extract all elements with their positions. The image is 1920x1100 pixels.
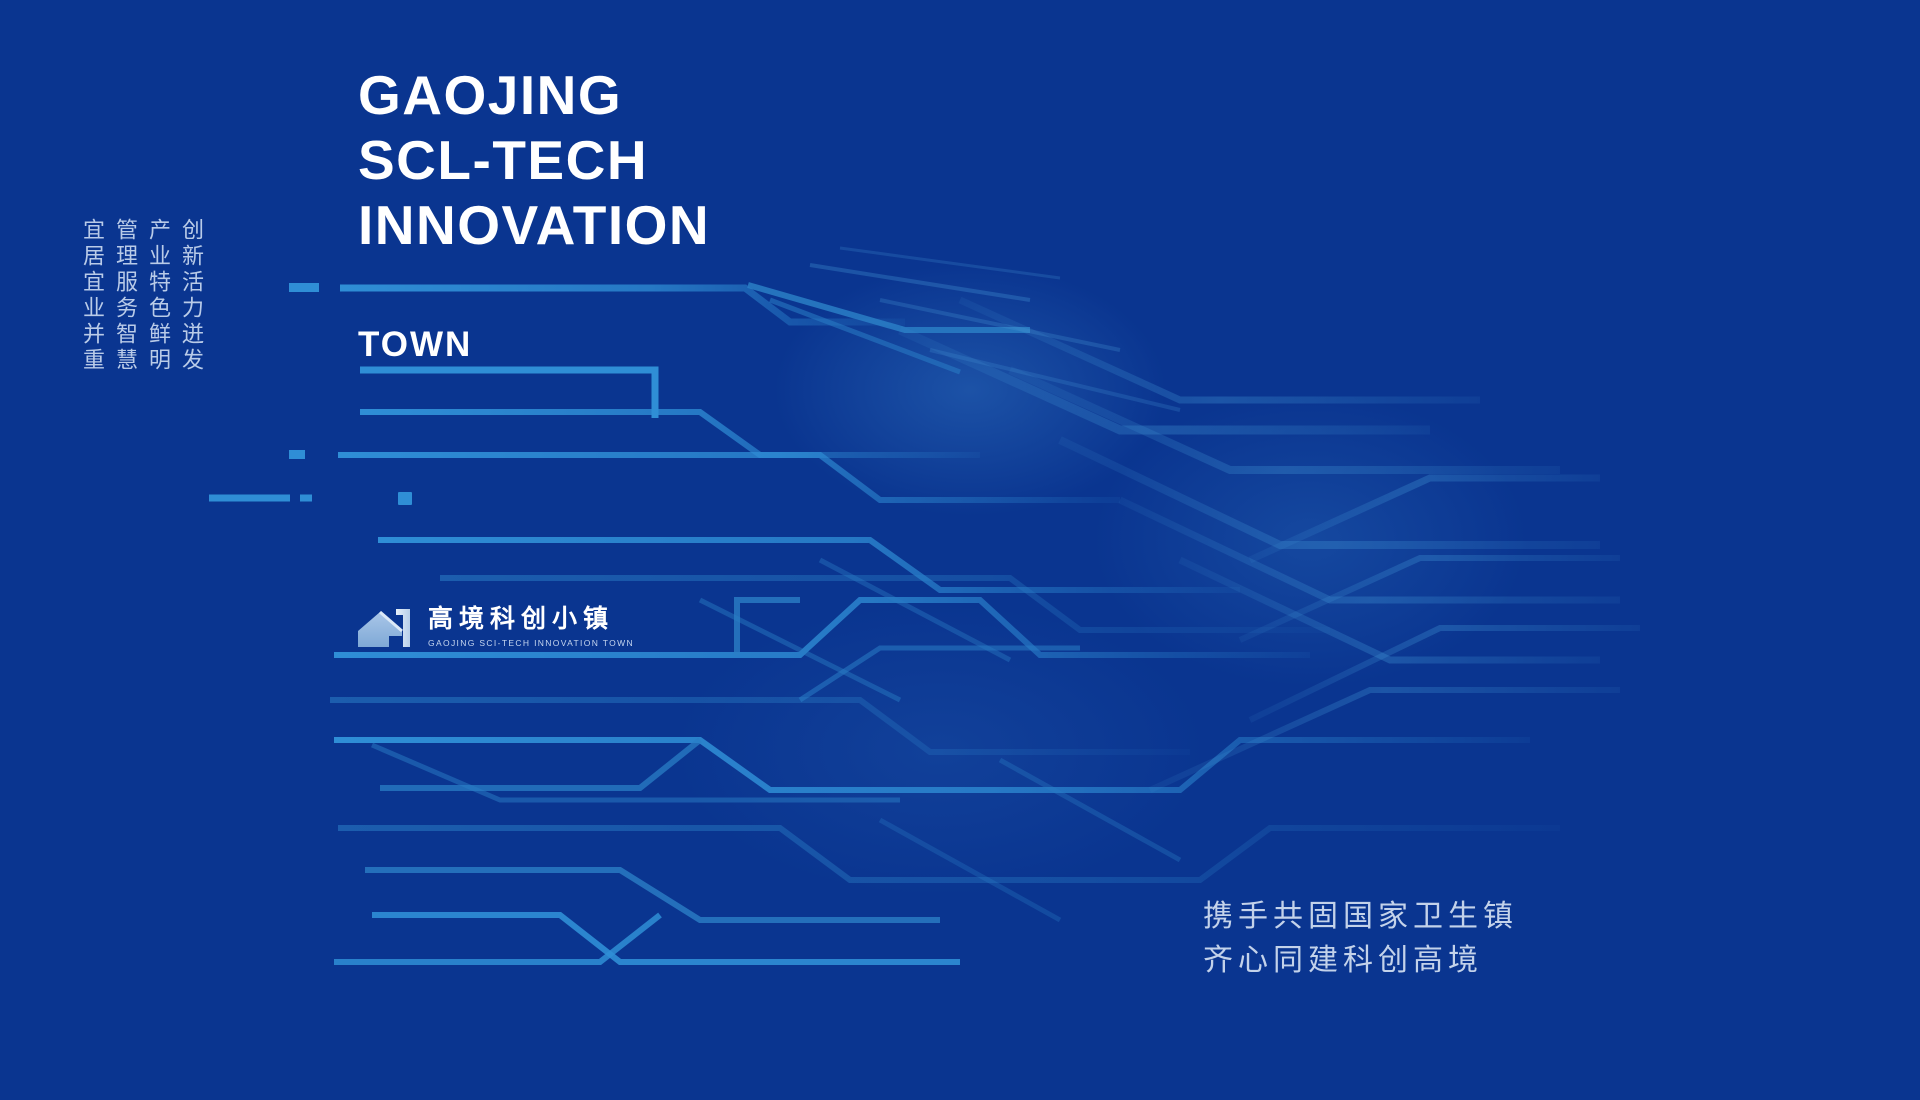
headline-line-4: TOWN	[358, 325, 472, 365]
house-building-icon	[356, 603, 416, 651]
bottom-slogan: 携手共固国家卫生镇 齐心同建科创高境	[1203, 895, 1518, 983]
brand-name-en: GAOJING SCI-TECH INNOVATION TOWN	[428, 636, 634, 650]
vertical-slogan-col-4: 宜居宜业并重	[78, 218, 104, 374]
poster-canvas: 创新活力迸发 产业特色鲜明 管理服务智慧 宜居宜业并重 GAOJING SCL-…	[0, 0, 1920, 1100]
headline-line-1: GAOJING	[358, 63, 710, 128]
bottom-slogan-line-1: 携手共固国家卫生镇	[1203, 895, 1518, 939]
bottom-slogan-line-2: 齐心同建科创高境	[1203, 939, 1518, 983]
circuit-trace-pattern	[0, 0, 1920, 1100]
vertical-slogan-col-3: 管理服务智慧	[111, 218, 137, 374]
headline-line-2: SCL-TECH	[358, 128, 710, 193]
vertical-slogan: 创新活力迸发 产业特色鲜明 管理服务智慧 宜居宜业并重	[78, 218, 203, 374]
headline-line-3: INNOVATION	[358, 193, 710, 258]
brand-name-cn: 高境科创小镇	[428, 605, 634, 633]
vertical-slogan-col-1: 创新活力迸发	[177, 218, 203, 374]
brand-logo: 高境科创小镇 GAOJING SCI-TECH INNOVATION TOWN	[356, 603, 634, 651]
page-title: GAOJING SCL-TECH INNOVATION	[358, 63, 710, 258]
vertical-slogan-col-2: 产业特色鲜明	[144, 218, 170, 374]
